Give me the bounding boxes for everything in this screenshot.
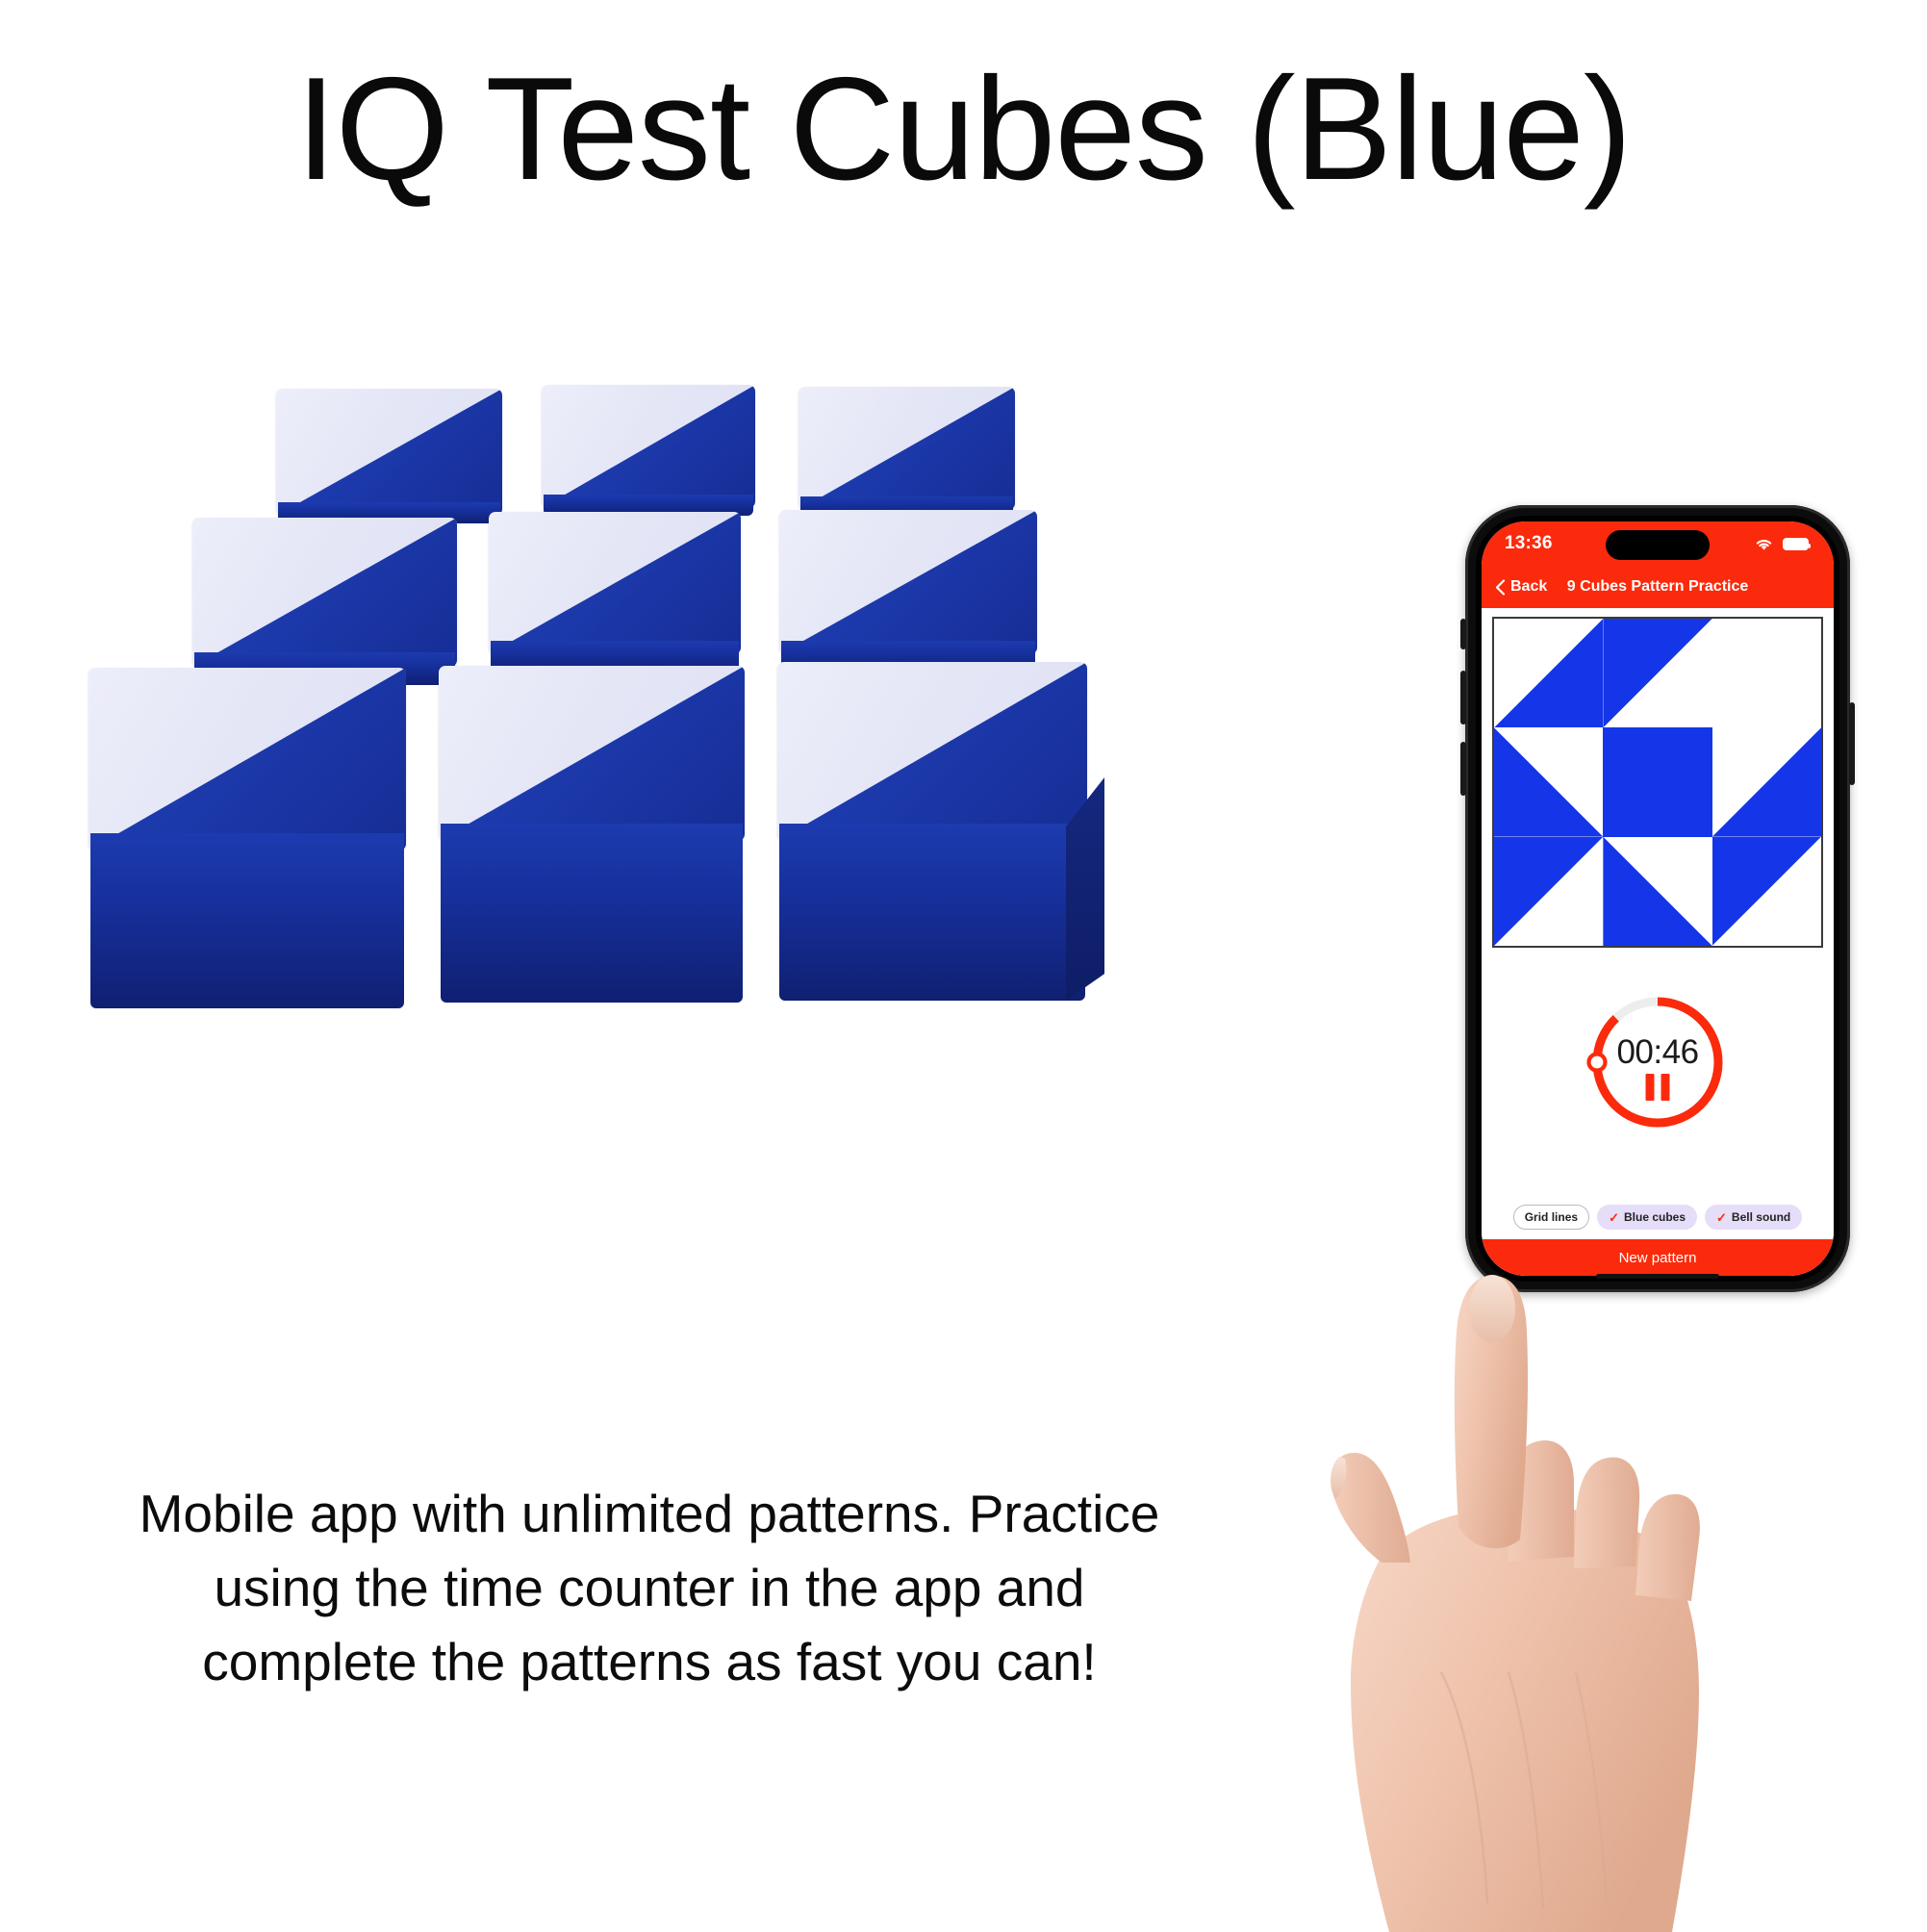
cube-top-face <box>779 510 1037 654</box>
cube-top-face <box>799 387 1015 510</box>
cube-r1c2 <box>542 385 755 508</box>
dynamic-island <box>1606 530 1710 560</box>
pattern-grid[interactable] <box>1492 617 1823 948</box>
pattern-cell-1-1[interactable] <box>1603 727 1711 836</box>
pattern-cell-1-2[interactable] <box>1712 727 1821 836</box>
ring-finger <box>1574 1458 1639 1568</box>
pattern-cell-2-1[interactable] <box>1603 837 1711 946</box>
pattern-cell-1-0[interactable] <box>1494 727 1603 836</box>
cube-r2c3 <box>779 510 1037 654</box>
timer-widget[interactable]: 00:46 <box>1581 985 1735 1139</box>
pattern-cell-2-2[interactable] <box>1712 837 1821 946</box>
status-bar-time: 13:36 <box>1505 533 1553 554</box>
check-icon: ✓ <box>1716 1211 1727 1224</box>
phone-screen: 13:36 <box>1482 521 1834 1276</box>
back-button[interactable]: Back <box>1495 578 1547 596</box>
volume-down-button[interactable] <box>1460 742 1466 796</box>
cube-r1c1 <box>276 389 502 516</box>
cube-top-face <box>89 668 406 851</box>
pinky-finger <box>1635 1494 1700 1601</box>
cube-r3c2 <box>439 666 745 841</box>
silence-switch[interactable] <box>1460 619 1466 649</box>
phone-mockup: 13:36 <box>1465 505 1850 1292</box>
power-button[interactable] <box>1849 702 1855 785</box>
page-title: IQ Test Cubes (Blue) <box>0 56 1927 202</box>
cube-front-face <box>441 824 743 1003</box>
cube-r1c3 <box>799 387 1015 510</box>
volume-up-button[interactable] <box>1460 671 1466 724</box>
nav-bar: Back 9 Cubes Pattern Practice <box>1482 566 1834 608</box>
timer-value: 00:46 <box>1581 1033 1735 1072</box>
chevron-left-icon <box>1495 579 1506 596</box>
chip-label: Grid lines <box>1525 1210 1578 1224</box>
cube-r3c1 <box>89 668 406 851</box>
promo-page: IQ Test Cubes (Blue) <box>0 0 1927 1924</box>
cube-r2c1 <box>192 518 457 667</box>
chip-label: Blue cubes <box>1624 1210 1686 1224</box>
index-fingernail <box>1469 1275 1515 1342</box>
chip-bell-sound[interactable]: ✓ Bell sound <box>1705 1205 1802 1230</box>
cube-top-face <box>489 512 741 654</box>
cube-top-face <box>439 666 745 841</box>
battery-icon <box>1783 538 1809 550</box>
chip-blue-cubes[interactable]: ✓ Blue cubes <box>1597 1205 1697 1230</box>
pattern-cell-0-2[interactable] <box>1712 619 1821 727</box>
caption-line-1: Mobile app with unlimited patterns. Prac… <box>106 1477 1193 1551</box>
caption-line-3: complete the patterns as fast you can! <box>106 1625 1193 1699</box>
cube-top-face <box>777 662 1087 841</box>
caption-text: Mobile app with unlimited patterns. Prac… <box>106 1477 1193 1699</box>
options-chip-row: Grid lines ✓ Blue cubes ✓ Bell sound <box>1482 1205 1834 1230</box>
cube-front-face <box>779 824 1085 1001</box>
pattern-cell-2-0[interactable] <box>1494 837 1603 946</box>
cube-top-face <box>276 389 502 516</box>
status-bar: 13:36 <box>1482 521 1834 566</box>
cube-top-face <box>192 518 457 667</box>
cube-r3c3 <box>777 662 1087 841</box>
caption-line-2: using the time counter in the app and <box>106 1551 1193 1625</box>
pattern-cell-0-0[interactable] <box>1494 619 1603 727</box>
cube-front-face <box>90 833 404 1008</box>
cubes-photo <box>67 366 1154 1078</box>
check-icon: ✓ <box>1609 1211 1619 1224</box>
cube-top-face <box>542 385 755 508</box>
cube-r2c2 <box>489 512 741 654</box>
hand-pointing-illustration <box>1220 1268 1759 1932</box>
pattern-cell-0-1[interactable] <box>1603 619 1711 727</box>
back-button-label: Back <box>1510 578 1547 596</box>
chip-grid-lines[interactable]: Grid lines <box>1513 1205 1589 1230</box>
chip-label: Bell sound <box>1732 1210 1790 1224</box>
app-body: 00:46 Grid lines ✓ Blue cubes ✓ Bell sou… <box>1482 608 1834 1276</box>
pause-icon[interactable] <box>1646 1074 1670 1101</box>
wifi-icon <box>1754 537 1774 551</box>
